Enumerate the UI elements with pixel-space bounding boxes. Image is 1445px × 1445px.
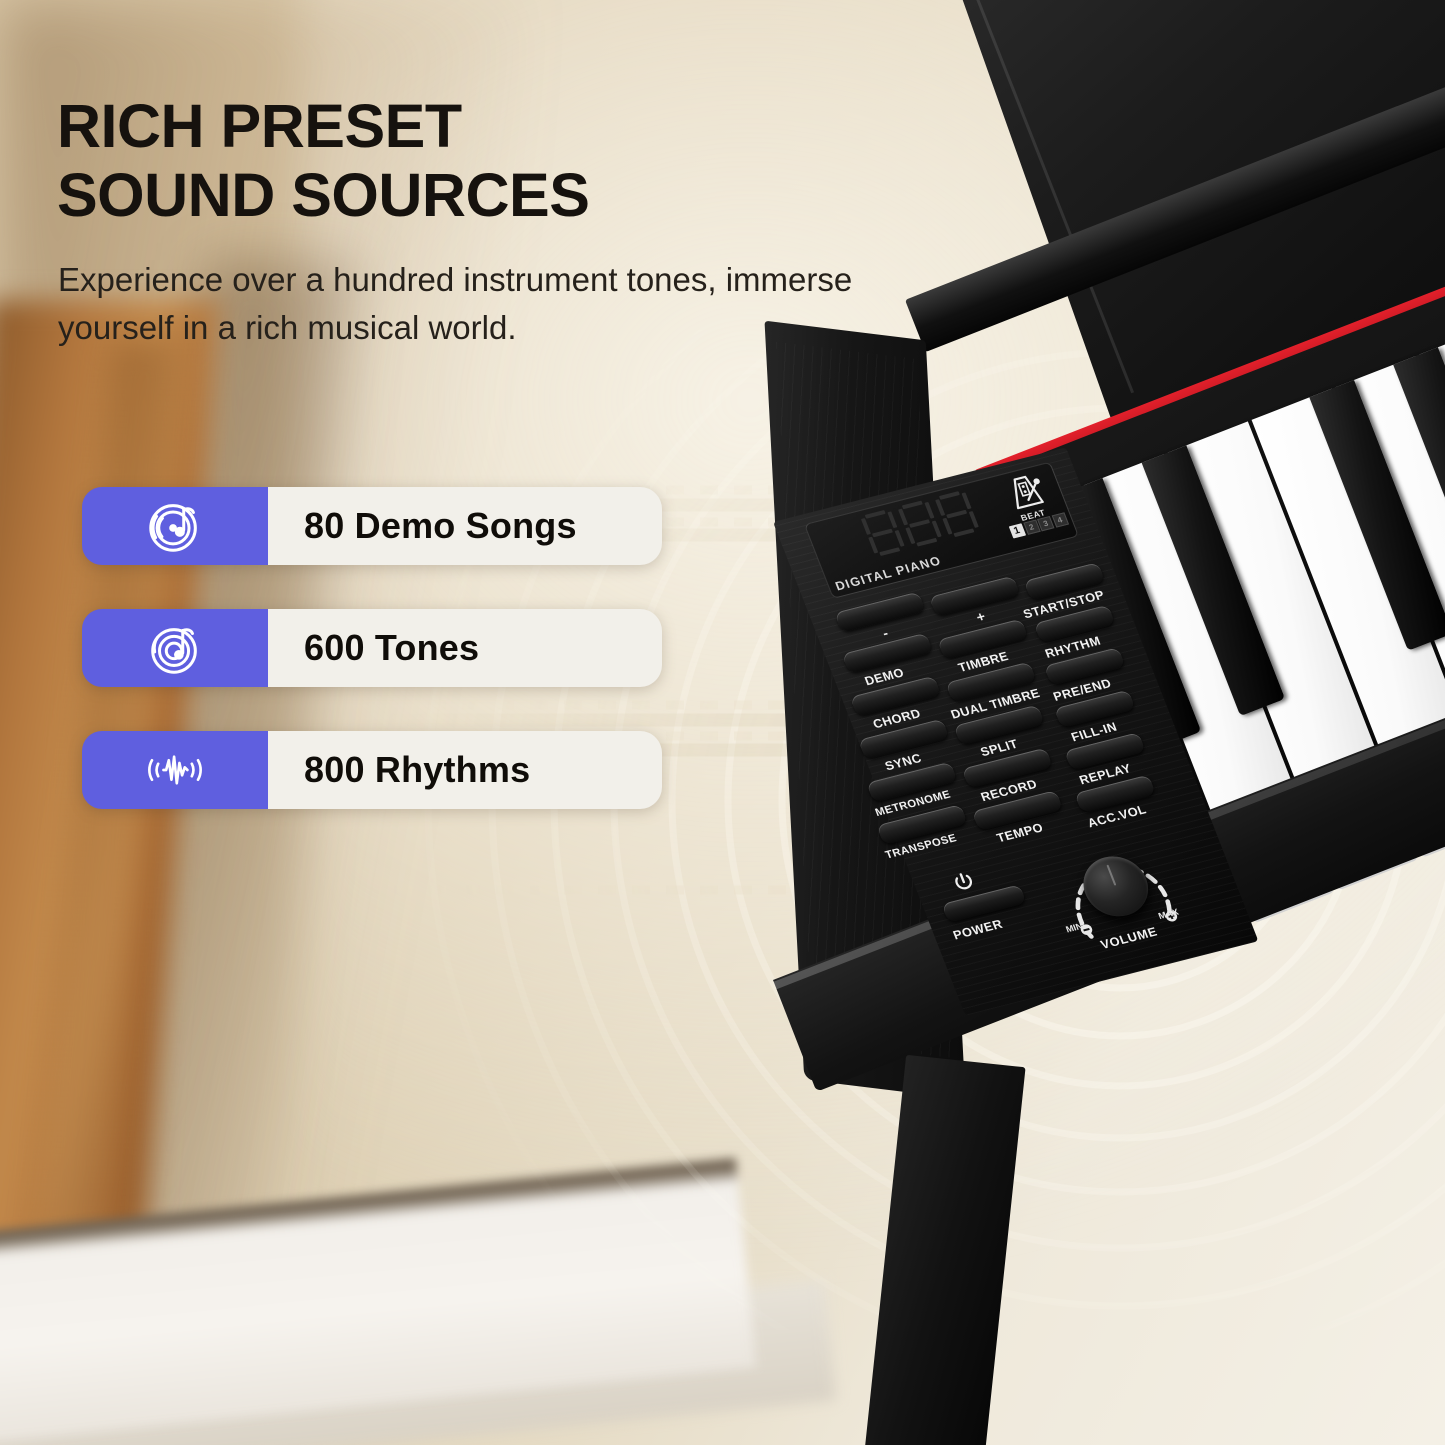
sync-button[interactable]	[858, 719, 950, 760]
power-label: POWER	[951, 917, 1005, 942]
record-button[interactable]	[962, 748, 1054, 789]
feature-icon-wrap	[82, 609, 268, 687]
power-button[interactable]	[941, 884, 1026, 923]
power-icon	[949, 869, 978, 895]
seven-segment-digit	[897, 499, 943, 548]
feature-body: 80 Demo Songs	[266, 487, 662, 565]
seven-segment-digit	[860, 509, 906, 558]
sound-waveform-icon	[144, 739, 206, 801]
record-target-note-icon	[144, 617, 206, 679]
feature-label: 80 Demo Songs	[266, 505, 577, 547]
feature-label: 800 Rhythms	[266, 749, 530, 791]
feature-icon-wrap	[82, 487, 268, 565]
minus-label: -	[880, 625, 890, 641]
list-item[interactable]: 800 Rhythms	[82, 731, 662, 809]
list-item[interactable]: 600 Tones	[82, 609, 662, 687]
metronome-badge: 1 BEAT 2 3 4	[990, 468, 1072, 548]
vinyl-record-note-icon	[144, 495, 206, 557]
product-banner: DIGITAL PIANO 1 BEAT	[0, 0, 1445, 1445]
list-item[interactable]: 80 Demo Songs	[82, 487, 662, 565]
feature-list: 80 Demo Songs	[82, 487, 662, 853]
volume-knob-group[interactable]: MIN MAX VOLUME	[1040, 827, 1196, 966]
timbre-button[interactable]	[937, 619, 1029, 660]
feature-icon-wrap	[82, 731, 268, 809]
headline-line-1: RICH PRESET	[57, 92, 462, 160]
headline-line-2: SOUND SOURCES	[57, 161, 817, 230]
brand-label: DIGITAL PIANO	[833, 554, 943, 594]
chord-button[interactable]	[850, 676, 942, 717]
feature-body: 600 Tones	[266, 609, 662, 687]
seven-segment-digits	[860, 490, 980, 558]
page-title: RICH PRESET SOUND SOURCES	[57, 92, 817, 230]
feature-body: 800 Rhythms	[266, 731, 662, 809]
page-subtitle: Experience over a hundred instrument ton…	[58, 256, 868, 351]
feature-label: 600 Tones	[266, 627, 479, 669]
beat-number: 4	[1051, 512, 1068, 527]
plus-label: +	[974, 608, 988, 625]
seven-segment-digit	[934, 490, 980, 539]
